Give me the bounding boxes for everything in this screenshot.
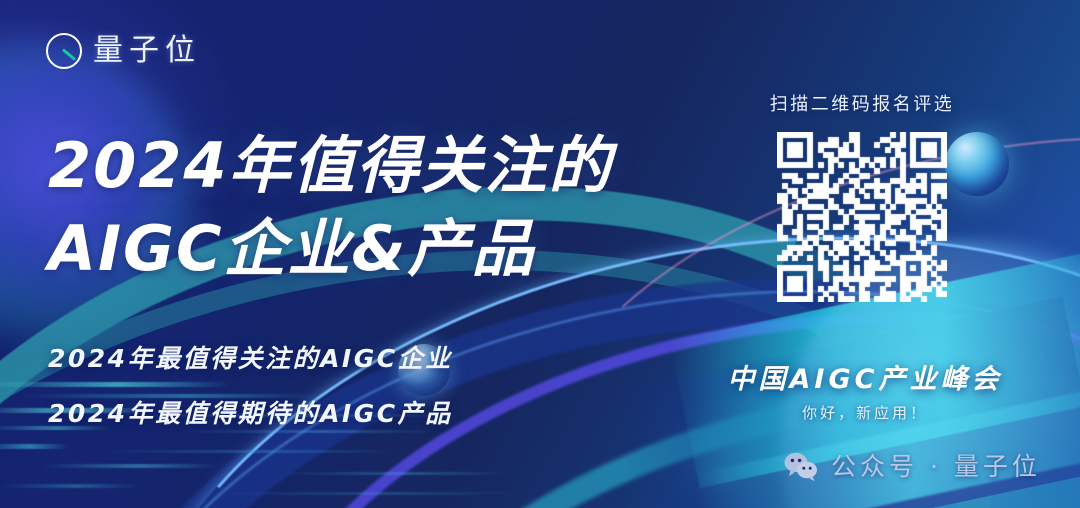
qr-signup-block: 扫描二维码报名评选 — [762, 96, 962, 302]
light-streak — [220, 492, 520, 495]
summit-subtitle: 你好，新应用！ — [700, 406, 1030, 421]
wechat-icon — [784, 452, 818, 481]
summit-title: 中国AIGC产业峰会 — [700, 366, 1030, 393]
quantum-q-circle-icon — [46, 33, 82, 69]
poster-canvas: 量子位 2024年值得关注的 AIGC企业&产品 2024年最值得关注的AIGC… — [0, 0, 1080, 508]
qr-code-icon[interactable] — [777, 132, 947, 302]
headline-line-1: 2024年值得关注的 — [48, 124, 708, 207]
subtitle-line-1: 2024年最值得关注的AIGC企业 — [48, 346, 453, 371]
light-streak — [0, 484, 140, 488]
wechat-label: 公众号 · 量子位 — [831, 454, 1041, 479]
headline-line-2: AIGC企业&产品 — [48, 207, 708, 290]
brand-logo-text: 量子位 — [93, 36, 201, 66]
qr-caption: 扫描二维码报名评选 — [762, 96, 962, 114]
page-title: 2024年值得关注的 AIGC企业&产品 — [48, 124, 708, 290]
light-streak — [40, 464, 220, 468]
light-streak — [180, 430, 440, 433]
light-streak — [100, 450, 400, 453]
brand-logo: 量子位 — [46, 33, 201, 69]
subtitle-group: 2024年最值得关注的AIGC企业 2024年最值得期待的AIGC产品 — [48, 346, 453, 426]
wechat-badge[interactable]: 公众号 · 量子位 — [784, 452, 1041, 481]
light-streak — [0, 444, 70, 449]
summit-lockup: 中国AIGC产业峰会 你好，新应用！ — [700, 366, 1030, 421]
light-streak — [280, 472, 510, 475]
subtitle-line-2: 2024年最值得期待的AIGC产品 — [48, 401, 453, 426]
